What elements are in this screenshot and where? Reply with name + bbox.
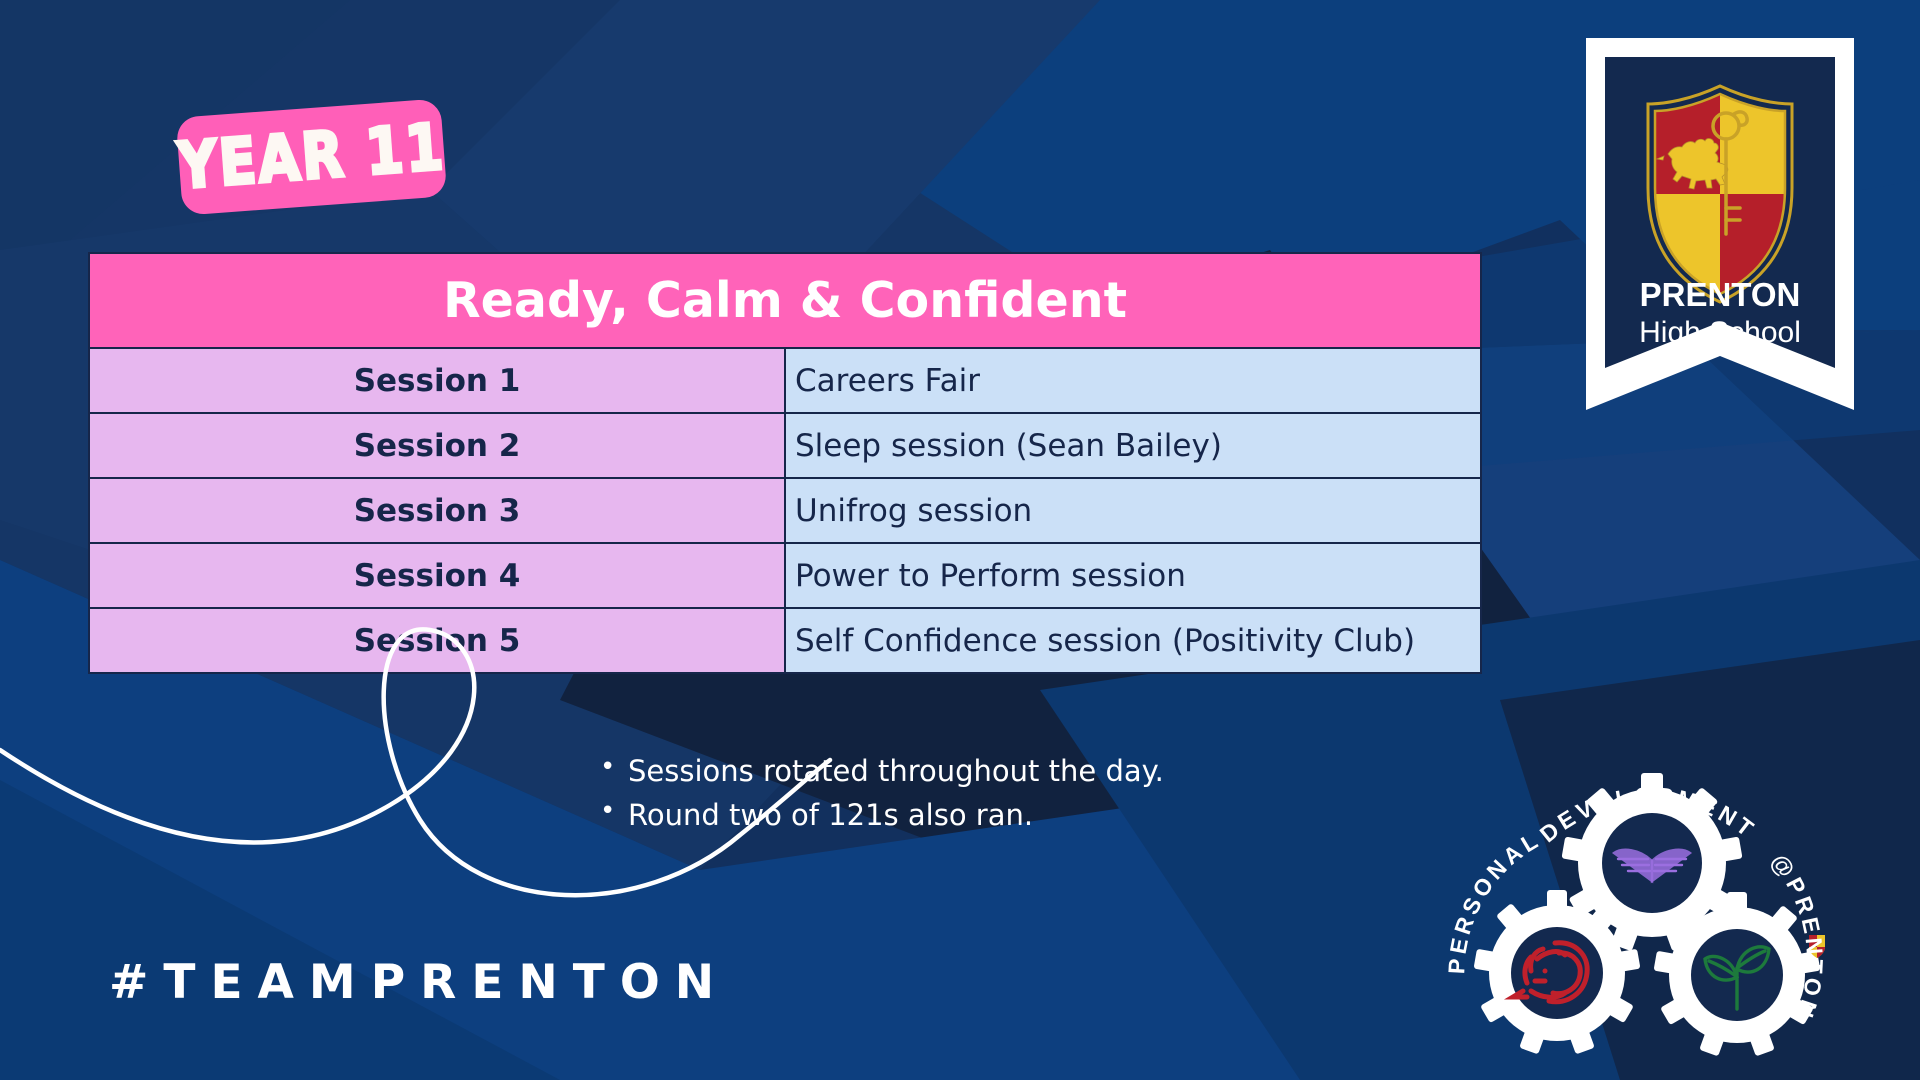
sessions-table: Ready, Calm & Confident Session 1 Career… xyxy=(88,252,1482,674)
school-name-primary: PRENTON xyxy=(1640,276,1801,313)
session-label: Session 3 xyxy=(89,478,785,543)
table-header-title: Ready, Calm & Confident xyxy=(89,253,1481,348)
school-logo: PRENTON High School xyxy=(1586,38,1854,410)
session-activity: Sleep session (Sean Bailey) xyxy=(785,413,1481,478)
year-badge: YEAR 11 xyxy=(176,98,447,215)
table-row: Session 1 Careers Fair xyxy=(89,348,1481,413)
hashtag-teamprenton: #TEAMPRENTON xyxy=(109,955,729,1010)
personal-development-logo: PERSONAL DEVELOPMENT @PRENTON xyxy=(1437,735,1867,1065)
session-activity: Unifrog session xyxy=(785,478,1481,543)
year-badge-label: YEAR 11 xyxy=(176,115,447,198)
list-item: Round two of 121s also ran. xyxy=(600,793,1164,837)
session-label: Session 1 xyxy=(89,348,785,413)
table-row: Session 3 Unifrog session xyxy=(89,478,1481,543)
table-header-row: Ready, Calm & Confident xyxy=(89,253,1481,348)
session-label: Session 4 xyxy=(89,543,785,608)
gear-personal xyxy=(1474,890,1641,1054)
session-label: Session 2 xyxy=(89,413,785,478)
table-row: Session 4 Power to Perform session xyxy=(89,543,1481,608)
school-name-secondary: High School xyxy=(1639,316,1801,349)
notes-list: Sessions rotated throughout the day. Rou… xyxy=(600,749,1164,837)
slide-canvas: YEAR 11 Ready, Calm & Confident Session … xyxy=(0,0,1920,1080)
table-row: Session 2 Sleep session (Sean Bailey) xyxy=(89,413,1481,478)
session-activity: Power to Perform session xyxy=(785,543,1481,608)
list-item: Sessions rotated throughout the day. xyxy=(600,749,1164,793)
session-activity: Careers Fair xyxy=(785,348,1481,413)
